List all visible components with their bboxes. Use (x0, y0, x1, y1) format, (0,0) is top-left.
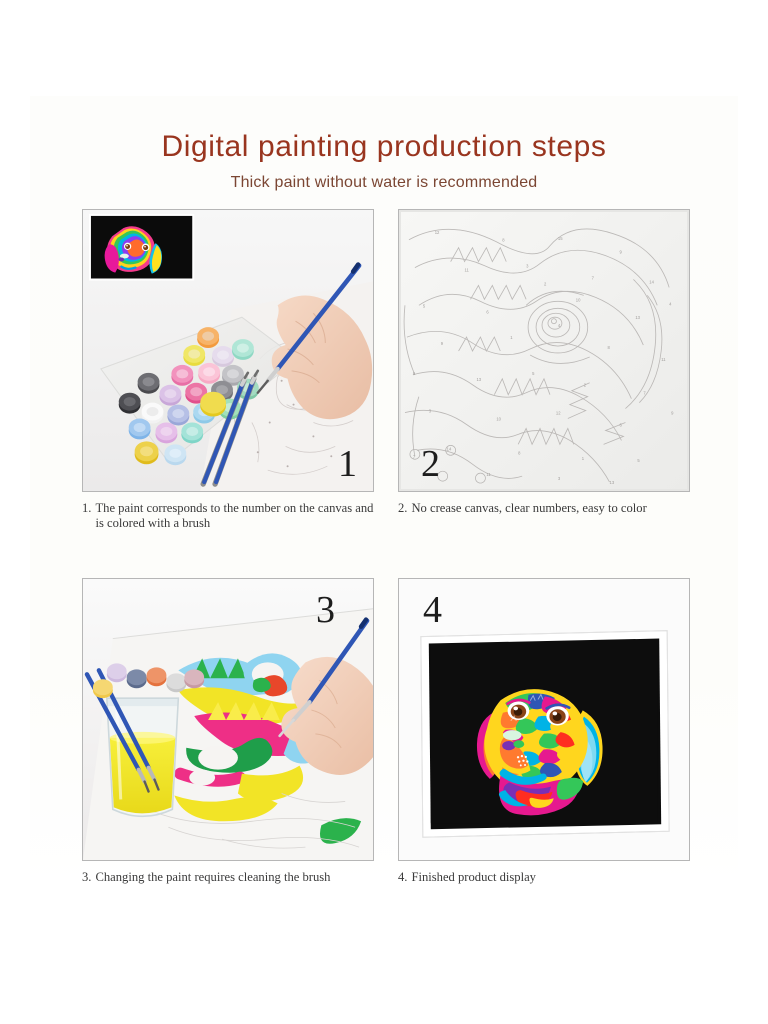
step-caption-index-2: 2. (398, 501, 407, 516)
svg-text:12: 12 (435, 230, 440, 235)
step-cell-3: 3 3. Changing the paint requires cleanin… (82, 578, 374, 885)
infographic-page: Digital painting production steps Thick … (0, 0, 768, 1024)
scene-blank-numbered-canvas: 128 159 113 714 56 210 134 91 48 116 135 (399, 210, 689, 491)
step-image-4: 4 (398, 578, 690, 861)
step-caption-4: 4. Finished product display (398, 870, 690, 885)
steps-row-2: 3 3. Changing the paint requires cleanin… (82, 578, 690, 885)
svg-text:11: 11 (661, 357, 666, 362)
scene-finished-framed-painting (399, 579, 689, 860)
steps-row-1: 1 1. The paint corresponds to the number… (82, 209, 690, 531)
svg-text:13: 13 (635, 315, 640, 320)
svg-text:13: 13 (476, 377, 481, 382)
page-title: Digital painting production steps (0, 130, 768, 163)
step-caption-text-1: The paint corresponds to the number on t… (95, 501, 374, 531)
step-caption-index-1: 1. (82, 501, 91, 531)
svg-text:14: 14 (447, 446, 452, 451)
step-caption-index-4: 4. (398, 870, 407, 885)
svg-text:15: 15 (558, 236, 563, 241)
step-caption-text-4: Finished product display (411, 870, 536, 885)
page-subtitle: Thick paint without water is recommended (0, 174, 768, 192)
svg-text:10: 10 (576, 297, 581, 302)
step-image-1: 1 (82, 209, 374, 492)
svg-text:13: 13 (610, 480, 615, 485)
step-cell-1: 1 1. The paint corresponds to the number… (82, 209, 374, 531)
step-caption-3: 3. Changing the paint requires cleaning … (82, 870, 374, 885)
step-image-2: 128 159 113 714 56 210 134 91 48 116 135 (398, 209, 690, 492)
svg-text:10: 10 (496, 417, 501, 422)
scene-paint-pots-and-hand (83, 210, 373, 491)
step-image-3: 3 (82, 578, 374, 861)
step-caption-1: 1. The paint corresponds to the number o… (82, 501, 374, 531)
scene-brush-cleaning-water-glass (83, 579, 373, 860)
step-cell-2: 128 159 113 714 56 210 134 91 48 116 135 (398, 209, 690, 531)
svg-text:11: 11 (486, 472, 491, 477)
svg-text:12: 12 (556, 411, 561, 416)
step-caption-text-2: No crease canvas, clear numbers, easy to… (411, 501, 646, 516)
step-cell-4: 4 4. Finished product display (398, 578, 690, 885)
header: Digital painting production steps Thick … (0, 130, 768, 192)
step-caption-2: 2. No crease canvas, clear numbers, easy… (398, 501, 690, 516)
step-caption-text-3: Changing the paint requires cleaning the… (95, 870, 330, 885)
svg-text:14: 14 (649, 279, 654, 284)
svg-text:11: 11 (465, 268, 470, 273)
step-caption-index-3: 3. (82, 870, 91, 885)
steps-grid: 1 1. The paint corresponds to the number… (82, 209, 690, 885)
